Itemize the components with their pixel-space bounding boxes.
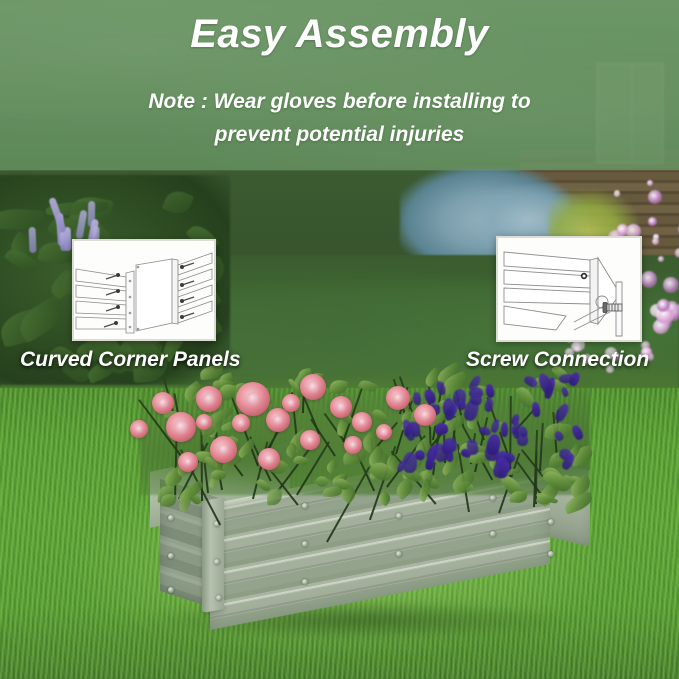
planter-screw [216, 595, 222, 601]
rose-stem [200, 431, 203, 501]
salvia-spike [501, 422, 508, 437]
salvia-spike [442, 397, 453, 415]
rose-bloom [130, 420, 148, 438]
rose-bloom [196, 386, 222, 412]
assembly-note-line-1: Note : Wear gloves before installing to [0, 86, 679, 119]
planter-screw [214, 559, 220, 565]
planter-screw [396, 551, 402, 557]
rose-bloom [166, 412, 196, 442]
rose-bloom [236, 382, 270, 416]
planter-screw [302, 541, 308, 547]
rose-bloom [266, 408, 290, 432]
rose-bloom [414, 404, 436, 426]
salvia-spike [412, 391, 421, 405]
phlox-bloom [648, 217, 657, 226]
product-infographic: Easy Assembly Note : Wear gloves before … [0, 0, 679, 679]
phlox-bloom [663, 277, 679, 293]
phlox-bloom [675, 248, 679, 257]
header-banner: Easy Assembly Note : Wear gloves before … [0, 0, 679, 170]
planter-screw [168, 587, 174, 593]
phlox-bloom [652, 238, 659, 245]
planter-screw [490, 495, 496, 501]
planter-screw [302, 579, 308, 585]
planter-screw [396, 513, 402, 519]
rose-bloom [376, 424, 392, 440]
planter-screw [302, 503, 308, 509]
page-title: Easy Assembly [0, 12, 679, 57]
rose-bloom [258, 448, 280, 470]
planter-screw [548, 519, 554, 525]
phlox-bloom [614, 190, 621, 197]
phlox-bloom [617, 224, 629, 236]
inset-curved-corner-panels [72, 239, 216, 341]
rose-bloom [282, 394, 300, 412]
planter-screw [490, 531, 496, 537]
caption-screw-connection: Screw Connection [466, 348, 649, 372]
rose-bloom [344, 436, 362, 454]
caption-curved-corner-panels: Curved Corner Panels [20, 348, 241, 372]
phlox-bloom [648, 190, 662, 204]
curved-corner-panel-diagram-icon [74, 241, 214, 339]
screw-connection-diagram-icon [498, 238, 640, 340]
planter-screw [548, 551, 554, 557]
planter-screw [168, 515, 174, 521]
rose-bloom [152, 392, 174, 414]
rose-bloom [210, 436, 237, 463]
rose-bloom [300, 430, 320, 450]
planter-screw [168, 553, 174, 559]
rose-bloom [386, 386, 410, 410]
assembly-note: Note : Wear gloves before installing to … [0, 86, 679, 151]
rose-bloom [196, 414, 212, 430]
phlox-bloom [647, 180, 653, 186]
hosta-flower-spike [29, 227, 37, 253]
phlox-bloom [657, 299, 670, 312]
assembly-note-line-2: prevent potential injuries [0, 119, 679, 152]
rose-bloom [232, 414, 250, 432]
rose-bloom [330, 396, 352, 418]
rose-bloom [352, 412, 372, 432]
rose-bloom [178, 452, 198, 472]
rose-bloom [300, 374, 326, 400]
inset-screw-connection [496, 236, 642, 342]
salvia-spike [558, 373, 574, 383]
